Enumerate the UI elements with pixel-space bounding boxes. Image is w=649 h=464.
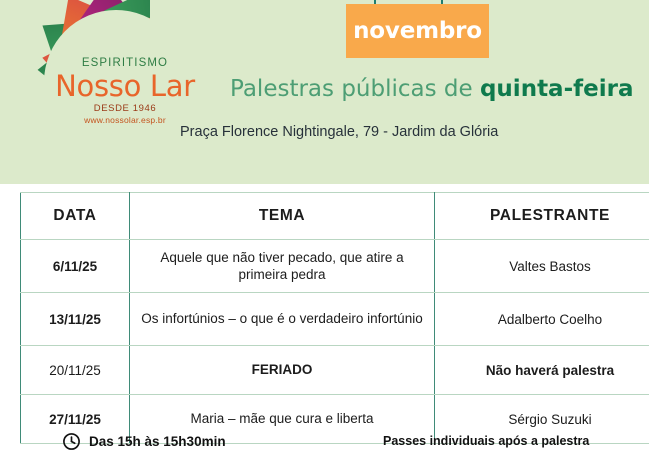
logo-wordmark: ESPIRITISMO Nosso Lar DESDE 1946 www.nos…	[50, 58, 200, 125]
cell-palestrante: Valtes Bastos	[435, 240, 649, 293]
table-header-row: DATA TEMA PALESTRANTE	[21, 193, 649, 240]
cell-tema: Os infortúnios – o que é o verdadeiro in…	[130, 293, 435, 346]
footer-passes-text: Passes individuais após a palestra	[383, 434, 589, 448]
logo-espiritismo-text: ESPIRITISMO	[50, 58, 200, 70]
table-row: 20/11/25 FERIADO Não haverá palestra	[21, 346, 649, 395]
logo-website-text: www.nossolar.esp.br	[50, 116, 200, 125]
venue-address: Praça Florence Nightingale, 79 - Jardim …	[180, 124, 580, 140]
cell-tema: FERIADO	[130, 346, 435, 395]
table-row: 6/11/25 Aquele que não tiver pecado, que…	[21, 240, 649, 293]
logo: ESPIRITISMO Nosso Lar DESDE 1946 www.nos…	[0, 0, 200, 165]
clock-icon	[62, 432, 81, 451]
poster-root: ESPIRITISMO Nosso Lar DESDE 1946 www.nos…	[0, 0, 649, 464]
page-title: Palestras públicas de quinta-feira	[230, 76, 630, 102]
cell-date: 6/11/25	[21, 240, 130, 293]
cell-palestrante: Não haverá palestra	[435, 346, 649, 395]
month-badge-label: novembro	[353, 18, 482, 44]
column-header-tema: TEMA	[130, 193, 435, 240]
footer-time-text: Das 15h às 15h30min	[89, 434, 226, 449]
column-header-data: DATA	[21, 193, 130, 240]
logo-since-text: DESDE 1946	[50, 104, 200, 114]
header-banner: ESPIRITISMO Nosso Lar DESDE 1946 www.nos…	[0, 0, 649, 184]
cell-palestrante: Adalberto Coelho	[435, 293, 649, 346]
table-row: 13/11/25 Os infortúnios – o que é o verd…	[21, 293, 649, 346]
cell-date: 20/11/25	[21, 346, 130, 395]
logo-name-text: Nosso Lar	[50, 71, 200, 101]
page-title-prefix: Palestras públicas de	[230, 76, 480, 102]
column-header-palestrante: PALESTRANTE	[435, 193, 649, 240]
month-badge: novembro	[346, 4, 489, 58]
cell-date: 13/11/25	[21, 293, 130, 346]
cell-tema: Aquele que não tiver pecado, que atire a…	[130, 240, 435, 293]
page-title-highlight: quinta-feira	[480, 76, 634, 102]
footer-time-group: Das 15h às 15h30min	[62, 432, 226, 451]
schedule-table: DATA TEMA PALESTRANTE 6/11/25 Aquele que…	[20, 192, 649, 444]
footer: Das 15h às 15h30min Passes individuais a…	[0, 424, 649, 464]
